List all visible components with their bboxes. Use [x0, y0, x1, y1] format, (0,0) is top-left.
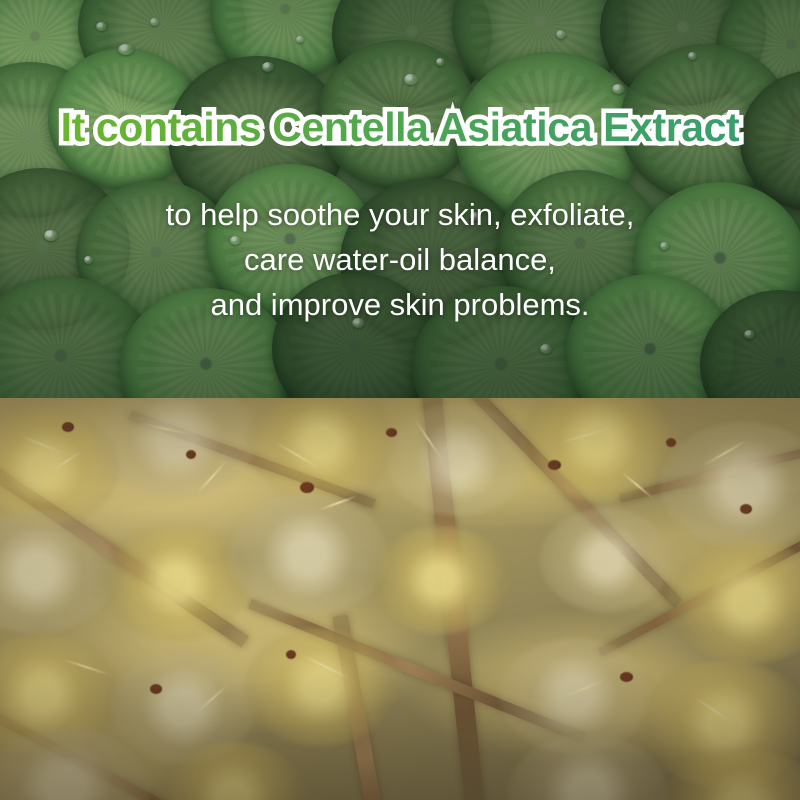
panel-centella: It contains Centella Asiatica Extract It…: [0, 0, 800, 398]
centella-body-line-2: care water-oil balance,: [0, 237, 800, 282]
witchhazel-text-layer: and Witch Hazel Extract and Witch Hazel …: [0, 398, 800, 800]
centella-body-line-3: and improve skin problems.: [0, 282, 800, 327]
centella-headline-fill: It contains Centella Asiatica Extract: [61, 104, 740, 150]
centella-headline: It contains Centella Asiatica Extract It…: [0, 104, 800, 151]
centella-body-line-1: to help soothe your skin, exfoliate,: [0, 192, 800, 237]
infographic-canvas: It contains Centella Asiatica Extract It…: [0, 0, 800, 800]
panel-witchhazel: and Witch Hazel Extract and Witch Hazel …: [0, 398, 800, 800]
centella-body-copy: to help soothe your skin, exfoliate, car…: [0, 192, 800, 327]
centella-text-layer: It contains Centella Asiatica Extract It…: [0, 0, 800, 398]
